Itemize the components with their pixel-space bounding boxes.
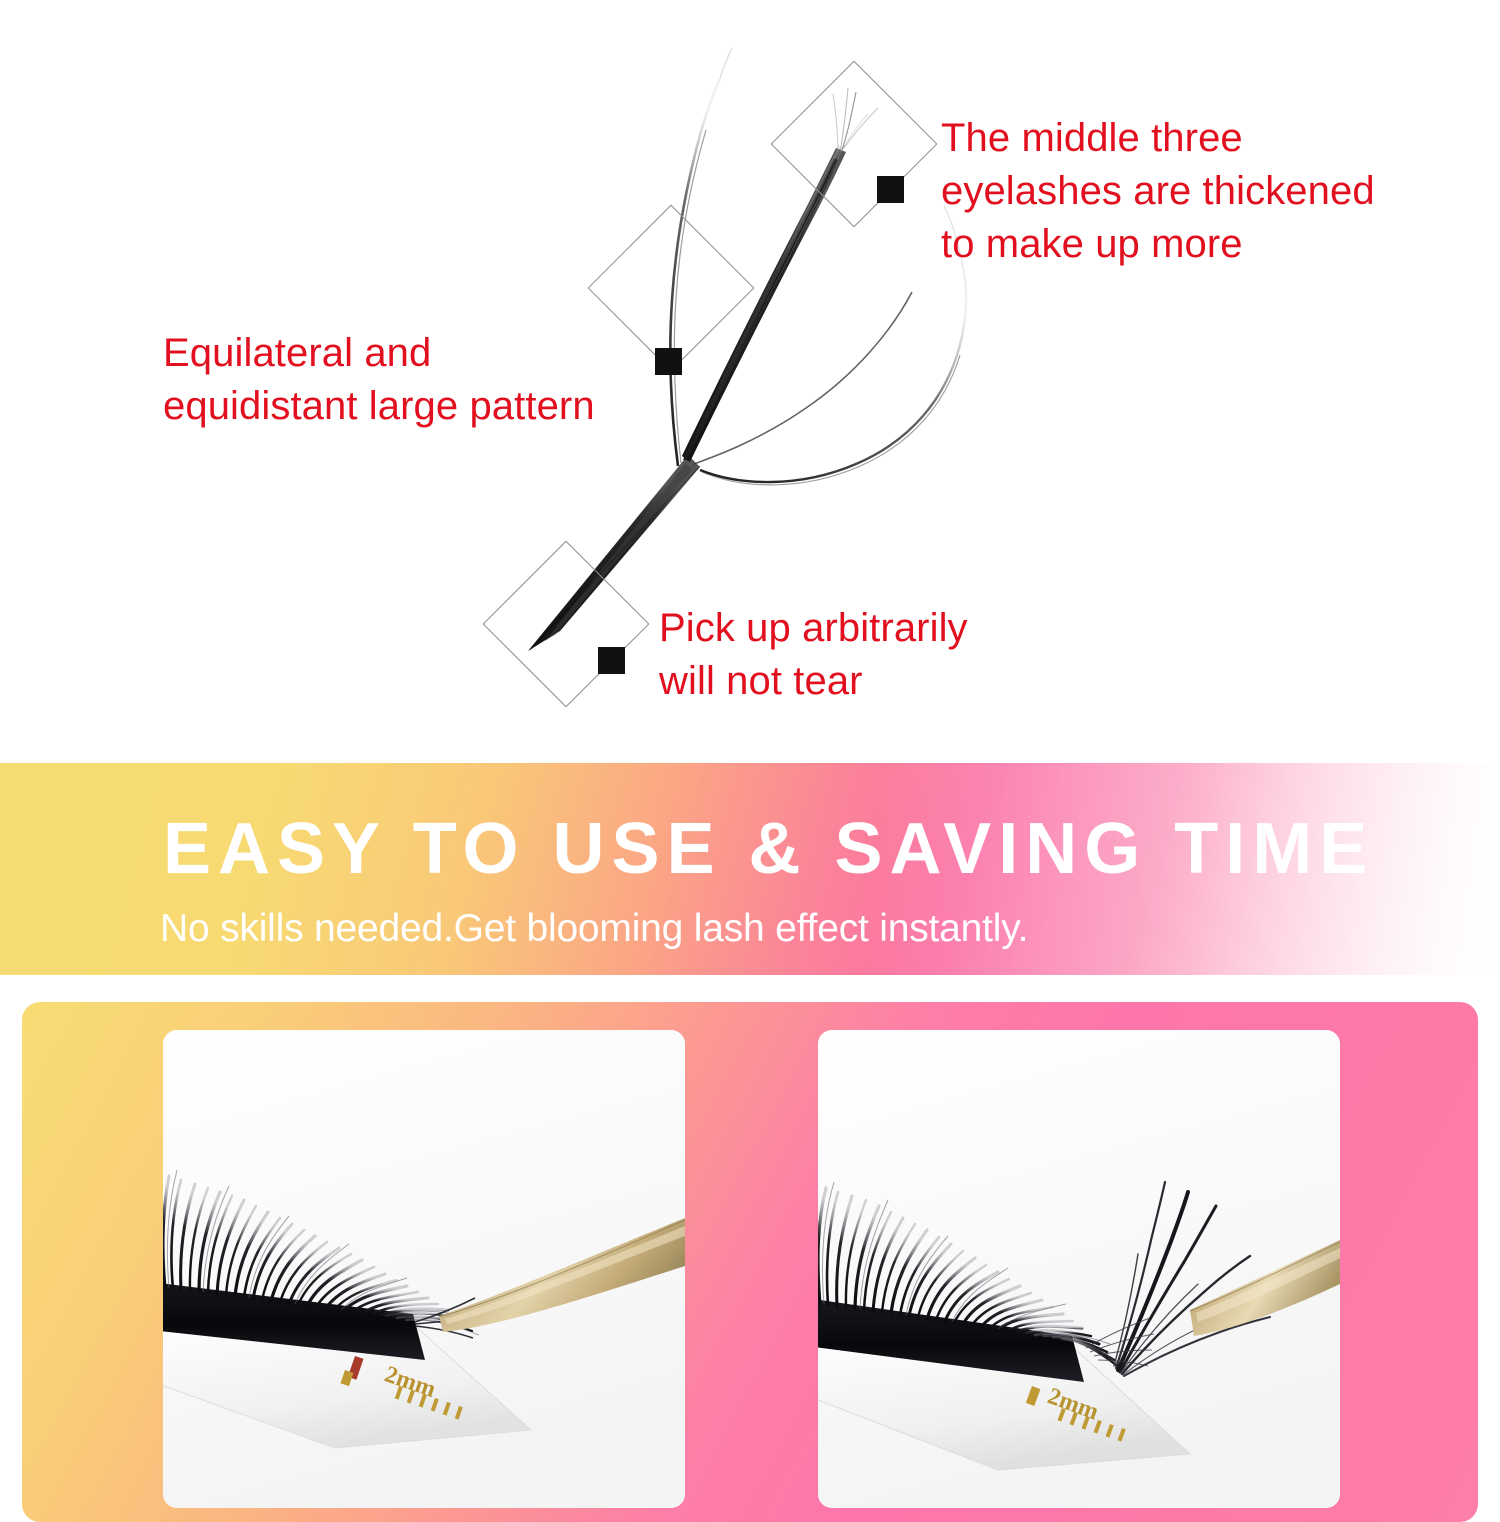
callout-text-pick-up: Pick up arbitrarily will not tear: [659, 602, 968, 708]
lash-fan-lifted-photo: 2mm: [818, 1030, 1340, 1508]
photo-card-lash-fan: 2mm: [818, 1030, 1340, 1508]
product-photo-panel: 2mm: [22, 1002, 1478, 1522]
callout-marker-equilateral: [655, 348, 682, 375]
lash-tray-with-tweezers-photo: 2mm: [163, 1030, 685, 1508]
banner-subtitle: No skills needed.Get blooming lash effec…: [160, 909, 1028, 948]
callout-text-middle-three: The middle three eyelashes are thickened…: [941, 112, 1375, 272]
banner-title: EASY TO USE & SAVING TIME: [163, 813, 1374, 885]
callout-marker-middle-three: [877, 176, 904, 203]
photo-card-lash-tray: 2mm: [163, 1030, 685, 1508]
callout-text-equilateral: Equilateral and equidistant large patter…: [163, 327, 595, 433]
feature-callout-section: The middle three eyelashes are thickened…: [0, 0, 1500, 755]
callout-marker-pick-up: [598, 647, 625, 674]
easy-to-use-banner: EASY TO USE & SAVING TIME No skills need…: [0, 763, 1500, 975]
